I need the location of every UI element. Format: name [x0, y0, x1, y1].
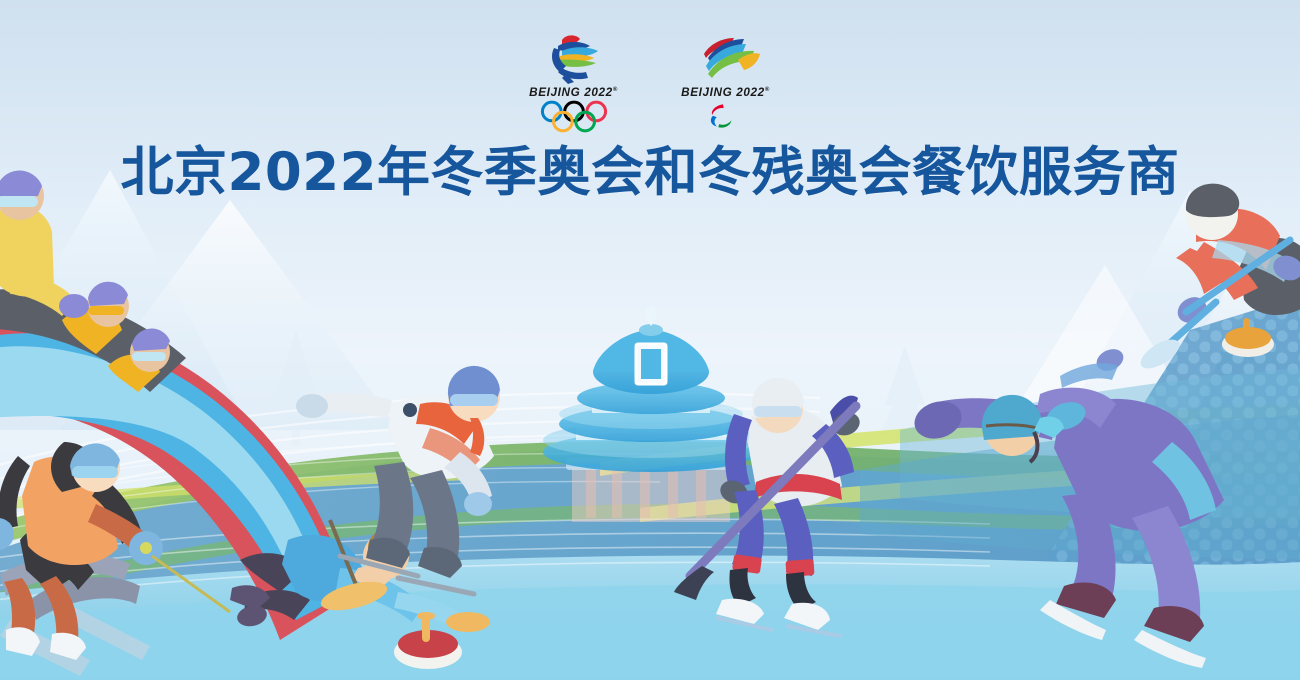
paralympic-emblem: BEIJING 2022®	[672, 30, 780, 129]
page-title: 北京2022年冬季奥会和冬残奥会餐饮服务商	[0, 143, 1300, 202]
winter-dream-emblem-icon	[532, 30, 616, 84]
olympic-rings-icon	[538, 103, 610, 129]
athlete-speed-skater-purple	[910, 388, 1224, 668]
olympic-emblem: BEIJING 2022®	[520, 30, 628, 129]
paralympic-agitos-icon	[703, 103, 749, 129]
paralympic-wordmark: BEIJING 2022®	[682, 87, 771, 99]
olympic-wordmark: BEIJING 2022®	[530, 87, 619, 99]
athlete-ice-hockey-player	[674, 378, 863, 636]
leap-emblem-icon	[684, 30, 768, 84]
beijing-2022-banner: BEIJING 2022®	[0, 0, 1300, 680]
athlete-curler-sweeper	[1060, 184, 1300, 388]
emblem-row: BEIJING 2022®	[0, 30, 1300, 140]
